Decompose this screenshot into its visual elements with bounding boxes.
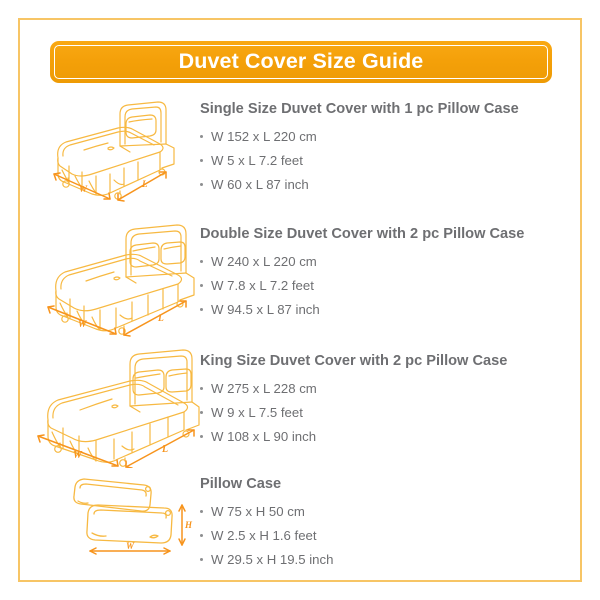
bullet-dot-icon <box>200 411 203 414</box>
section-king: W L King Size Duvet Cover with 2 pc Pill… <box>22 348 578 468</box>
svg-text:W: W <box>79 184 88 194</box>
list-item: W 7.8 x L 7.2 feet <box>200 274 578 298</box>
bullet-dot-icon <box>200 308 203 311</box>
list-item: W 75 x H 50 cm <box>200 500 578 524</box>
list-item: W 152 x L 220 cm <box>200 125 578 149</box>
section-single-heading: Single Size Duvet Cover with 1 pc Pillow… <box>200 100 578 118</box>
list-item: W 108 x L 90 inch <box>200 425 578 449</box>
bed-king-illustration: W L <box>22 348 200 468</box>
svg-text:H: H <box>184 520 193 530</box>
bullet-text: W 75 x H 50 cm <box>211 504 305 519</box>
svg-text:W: W <box>78 320 87 330</box>
bullet-text: W 275 x L 228 cm <box>211 381 317 396</box>
bullet-dot-icon <box>200 135 203 138</box>
bullet-text: W 7.8 x L 7.2 feet <box>211 278 314 293</box>
title-banner: Duvet Cover Size Guide <box>50 41 552 83</box>
section-double: W L Double Size Duvet Cover with 2 pc Pi… <box>22 221 578 337</box>
bullet-dot-icon <box>200 558 203 561</box>
bullet-text: W 240 x L 220 cm <box>211 254 317 269</box>
bullet-text: W 9 x L 7.5 feet <box>211 405 303 420</box>
svg-text:W: W <box>73 450 83 461</box>
list-item: W 29.5 x H 19.5 inch <box>200 548 578 572</box>
section-single-text: Single Size Duvet Cover with 1 pc Pillow… <box>200 96 578 197</box>
section-double-heading: Double Size Duvet Cover with 2 pc Pillow… <box>200 225 578 243</box>
bed-double-illustration: W L <box>22 221 200 337</box>
section-king-text: King Size Duvet Cover with 2 pc Pillow C… <box>200 348 578 449</box>
list-item: W 240 x L 220 cm <box>200 250 578 274</box>
list-item: W 94.5 x L 87 inch <box>200 298 578 322</box>
section-pillow-bullets: W 75 x H 50 cm W 2.5 x H 1.6 feet W 29.5… <box>200 500 578 572</box>
bullet-dot-icon <box>200 260 203 263</box>
bullet-text: W 152 x L 220 cm <box>211 129 317 144</box>
bullet-dot-icon <box>200 534 203 537</box>
section-double-bullets: W 240 x L 220 cm W 7.8 x L 7.2 feet W 94… <box>200 250 578 322</box>
section-single-bullets: W 152 x L 220 cm W 5 x L 7.2 feet W 60 x… <box>200 125 578 197</box>
bullet-dot-icon <box>200 159 203 162</box>
bed-single-illustration: W L <box>22 96 200 204</box>
bullet-text: W 2.5 x H 1.6 feet <box>211 528 317 543</box>
pillow-case-illustration: W H <box>22 471 200 563</box>
bullet-dot-icon <box>200 510 203 513</box>
svg-text:L: L <box>161 444 168 455</box>
section-single: W L Single Size Duvet Cover with 1 pc Pi… <box>22 96 578 204</box>
section-king-bullets: W 275 x L 228 cm W 9 x L 7.5 feet W 108 … <box>200 377 578 449</box>
section-king-heading: King Size Duvet Cover with 2 pc Pillow C… <box>200 352 578 370</box>
bullet-text: W 108 x L 90 inch <box>211 429 316 444</box>
section-pillow-heading: Pillow Case <box>200 475 578 493</box>
bullet-text: W 5 x L 7.2 feet <box>211 153 303 168</box>
bullet-dot-icon <box>200 435 203 438</box>
section-pillow-text: Pillow Case W 75 x H 50 cm W 2.5 x H 1.6… <box>200 471 578 572</box>
bullet-text: W 60 x L 87 inch <box>211 177 309 192</box>
bullet-text: W 29.5 x H 19.5 inch <box>211 552 333 567</box>
list-item: W 9 x L 7.5 feet <box>200 401 578 425</box>
list-item: W 2.5 x H 1.6 feet <box>200 524 578 548</box>
list-item: W 60 x L 87 inch <box>200 173 578 197</box>
svg-text:W: W <box>126 541 135 551</box>
section-pillow: W H Pillow Case W 75 x H 50 cm W 2.5 x H… <box>22 471 578 572</box>
bullet-dot-icon <box>200 387 203 390</box>
bullet-text: W 94.5 x L 87 inch <box>211 302 320 317</box>
page-title: Duvet Cover Size Guide <box>179 51 424 73</box>
size-guide-page: Duvet Cover Size Guide <box>0 0 600 600</box>
svg-text:L: L <box>141 179 148 189</box>
list-item: W 275 x L 228 cm <box>200 377 578 401</box>
list-item: W 5 x L 7.2 feet <box>200 149 578 173</box>
bullet-dot-icon <box>200 183 203 186</box>
section-double-text: Double Size Duvet Cover with 2 pc Pillow… <box>200 221 578 322</box>
bullet-dot-icon <box>200 284 203 287</box>
svg-text:L: L <box>157 314 164 324</box>
